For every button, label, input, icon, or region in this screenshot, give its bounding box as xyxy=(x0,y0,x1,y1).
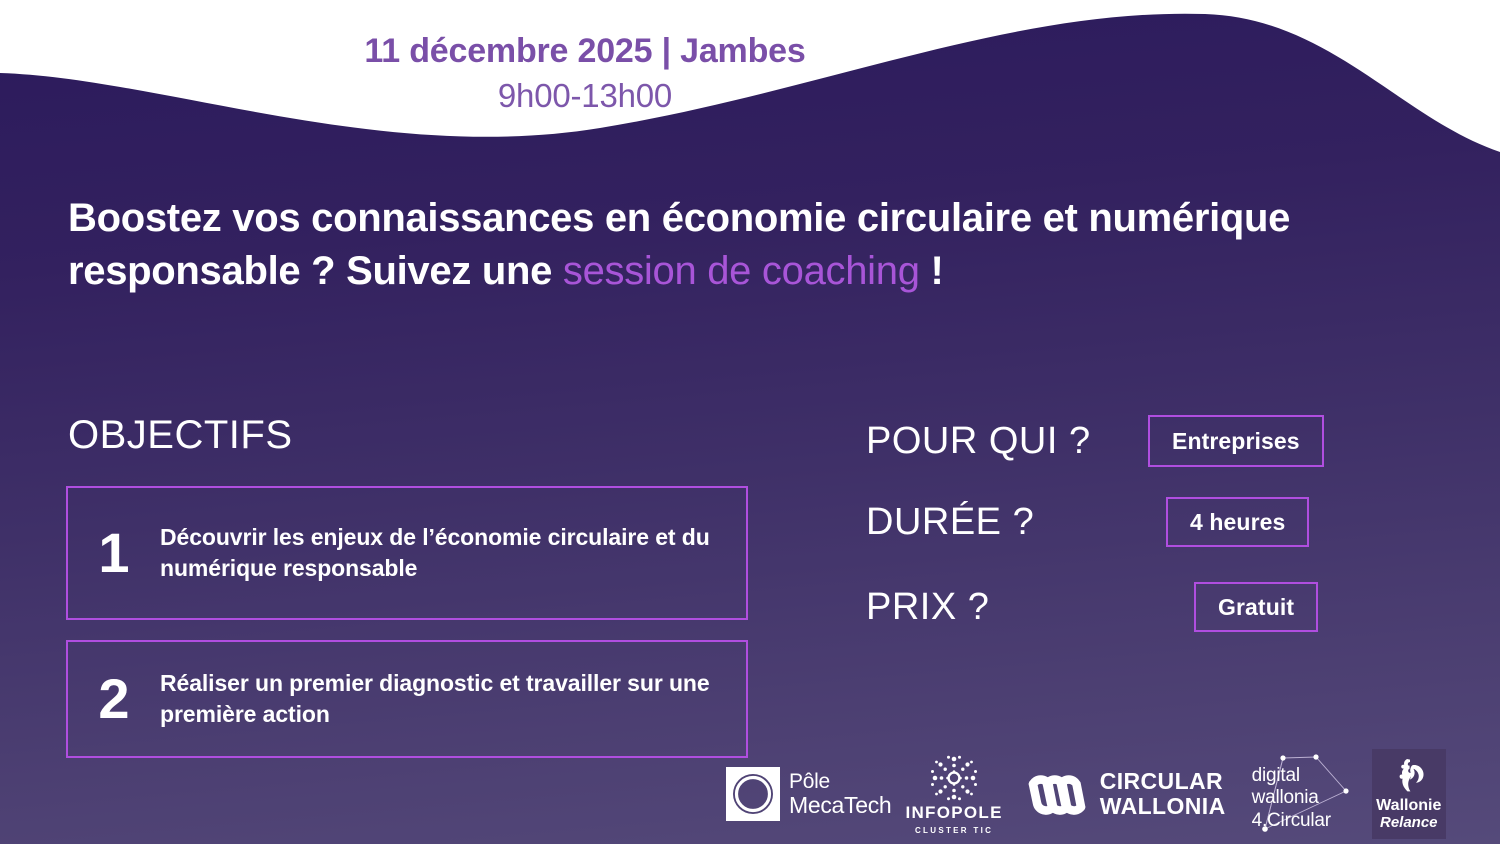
infopole-wordmark: INFOPOLE xyxy=(905,803,1002,823)
objectives-heading: OBJECTIFS xyxy=(68,413,293,458)
partner-logo-strip: Pôle MecaTech xyxy=(726,748,1446,840)
circular-wallonia-loops-icon xyxy=(1023,769,1091,819)
objective-item-2: 2 Réaliser un premier diagnostic et trav… xyxy=(66,640,748,758)
logo-infopole: INFOPOLE CLUSTER TIC xyxy=(905,754,1002,835)
info-label: DURÉE ? xyxy=(866,501,1148,544)
poster-canvas: 11 décembre 2025 | Jambes 9h00-13h00 Boo… xyxy=(0,0,1500,844)
headline-part-2: ! xyxy=(920,249,944,293)
page-title: Boostez vos connaissances en économie ci… xyxy=(68,192,1398,298)
pole-mecatech-wordmark: Pôle MecaTech xyxy=(789,771,891,817)
header-date-block: 11 décembre 2025 | Jambes 9h00-13h00 xyxy=(0,0,1500,150)
infopole-subtitle: CLUSTER TIC xyxy=(915,826,993,835)
pole-mecatech-line2: MecaTech xyxy=(789,793,891,817)
info-row-audience: POUR QUI ? Entreprises xyxy=(866,415,1324,467)
event-date: 11 décembre 2025 | Jambes xyxy=(0,32,1500,71)
objective-item-1: 1 Découvrir les enjeux de l’économie cir… xyxy=(66,486,748,620)
objective-number: 2 xyxy=(68,671,160,727)
circular-wallonia-line1: CIRCULAR xyxy=(1100,769,1226,794)
info-row-duration: DURÉE ? 4 heures xyxy=(866,497,1309,547)
circular-wallonia-wordmark: CIRCULAR WALLONIA xyxy=(1100,769,1226,819)
pole-mecatech-line1: Pôle xyxy=(789,771,891,793)
digital-wallonia-line2: wallonia xyxy=(1252,787,1331,809)
wallonie-relance-line2: Relance xyxy=(1380,815,1438,832)
wallonie-relance-line1: Wallonie xyxy=(1376,797,1441,815)
digital-wallonia-wordmark: digital wallonia 4.Circular xyxy=(1252,765,1331,832)
info-row-price: PRIX ? Gratuit xyxy=(866,582,1318,632)
wallonie-rooster-icon xyxy=(1387,757,1431,793)
infopole-starburst-icon xyxy=(923,754,985,802)
info-label: PRIX ? xyxy=(866,586,1148,629)
logo-circular-wallonia: CIRCULAR WALLONIA xyxy=(1023,769,1226,819)
logo-digital-wallonia-4circular: digital wallonia 4.Circular xyxy=(1250,751,1350,837)
status-badge-audience: Entreprises xyxy=(1148,415,1324,467)
logo-wallonie-relance: Wallonie Relance xyxy=(1372,749,1446,839)
objective-text: Réaliser un premier diagnostic et travai… xyxy=(160,668,746,730)
event-time: 9h00-13h00 xyxy=(0,77,1500,115)
status-badge-price: Gratuit xyxy=(1194,582,1318,632)
objective-text: Découvrir les enjeux de l’économie circu… xyxy=(160,522,746,584)
logo-pole-mecatech: Pôle MecaTech xyxy=(726,767,891,821)
status-badge-duration: 4 heures xyxy=(1166,497,1309,547)
headline-accent: session de coaching xyxy=(563,249,920,293)
digital-wallonia-line3: 4.Circular xyxy=(1252,810,1331,832)
pole-mecatech-mark-icon xyxy=(726,767,780,821)
digital-wallonia-line1: digital xyxy=(1252,765,1331,787)
info-label: POUR QUI ? xyxy=(866,420,1148,463)
objective-number: 1 xyxy=(68,525,160,581)
circular-wallonia-line2: WALLONIA xyxy=(1100,794,1226,819)
